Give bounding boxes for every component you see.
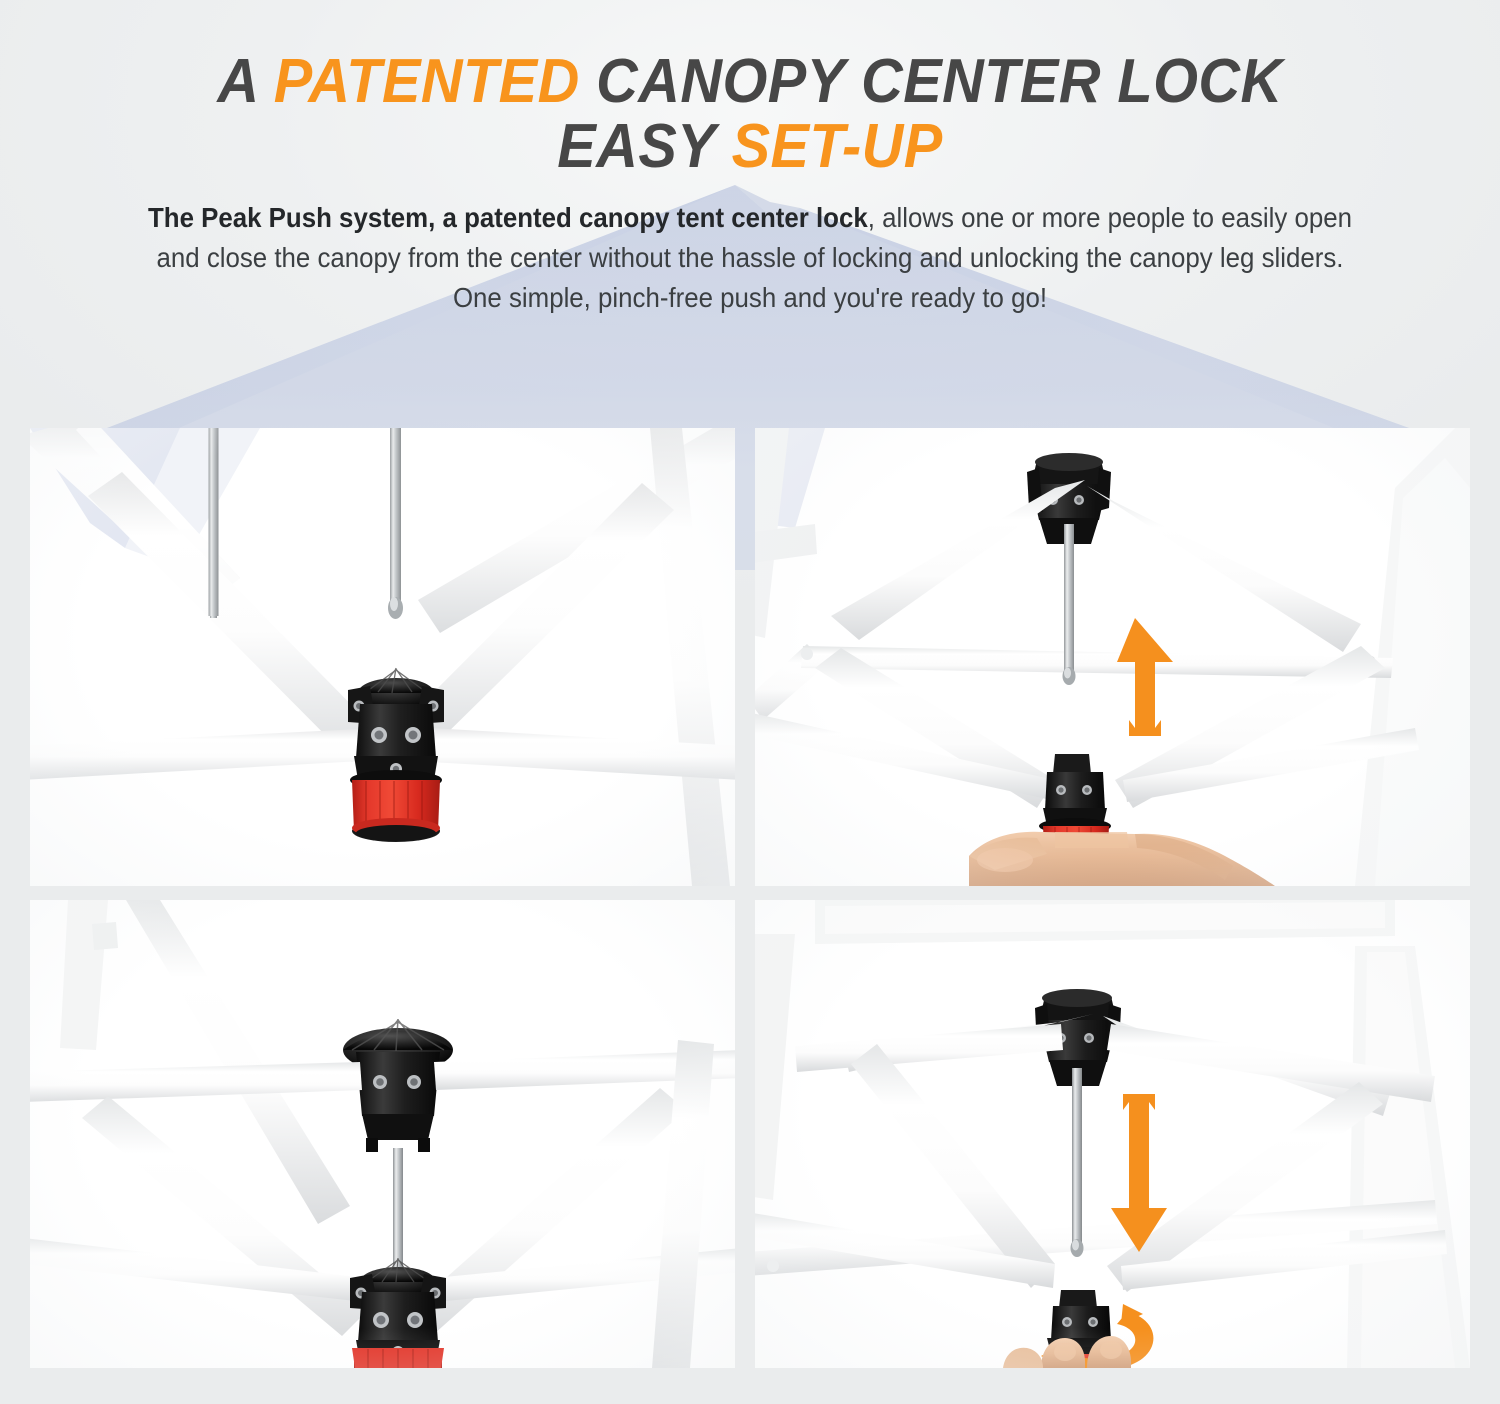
header-block: A PATENTED CANOPY CENTER LOCK EASY SET-U…	[0, 52, 1500, 318]
push-rod	[207, 428, 218, 612]
photo-grid	[30, 428, 1470, 1368]
panel-4-twist-and-pull-down	[755, 900, 1470, 1368]
title-part-canopy-center-lock: CANOPY CENTER LOCK	[580, 47, 1283, 116]
red-center-knob	[352, 780, 440, 842]
title-part-easy: EASY	[557, 112, 731, 181]
title-part-a: A	[217, 47, 273, 116]
red-center-knob	[354, 1360, 442, 1368]
push-rod	[1071, 1068, 1084, 1257]
panel-3-locked-position	[30, 900, 735, 1368]
panel-1-closed-position	[30, 428, 735, 886]
page-title: A PATENTED CANOPY CENTER LOCK EASY SET-U…	[0, 52, 1500, 178]
push-rod-visible	[388, 428, 403, 619]
subtitle-closing-line: One simple, pinch-free push and you're r…	[453, 282, 1047, 313]
title-part-patented: PATENTED	[274, 47, 580, 116]
panel-2-push-up	[755, 428, 1470, 886]
center-lock-hub	[348, 668, 444, 790]
page-subtitle: The Peak Push system, a patented canopy …	[45, 198, 1455, 318]
push-rod	[1063, 524, 1076, 685]
title-part-setup: SET-UP	[732, 112, 943, 181]
subtitle-bold-lead: The Peak Push system, a patented canopy …	[148, 202, 868, 233]
infographic-page: A PATENTED CANOPY CENTER LOCK EASY SET-U…	[0, 0, 1500, 1404]
